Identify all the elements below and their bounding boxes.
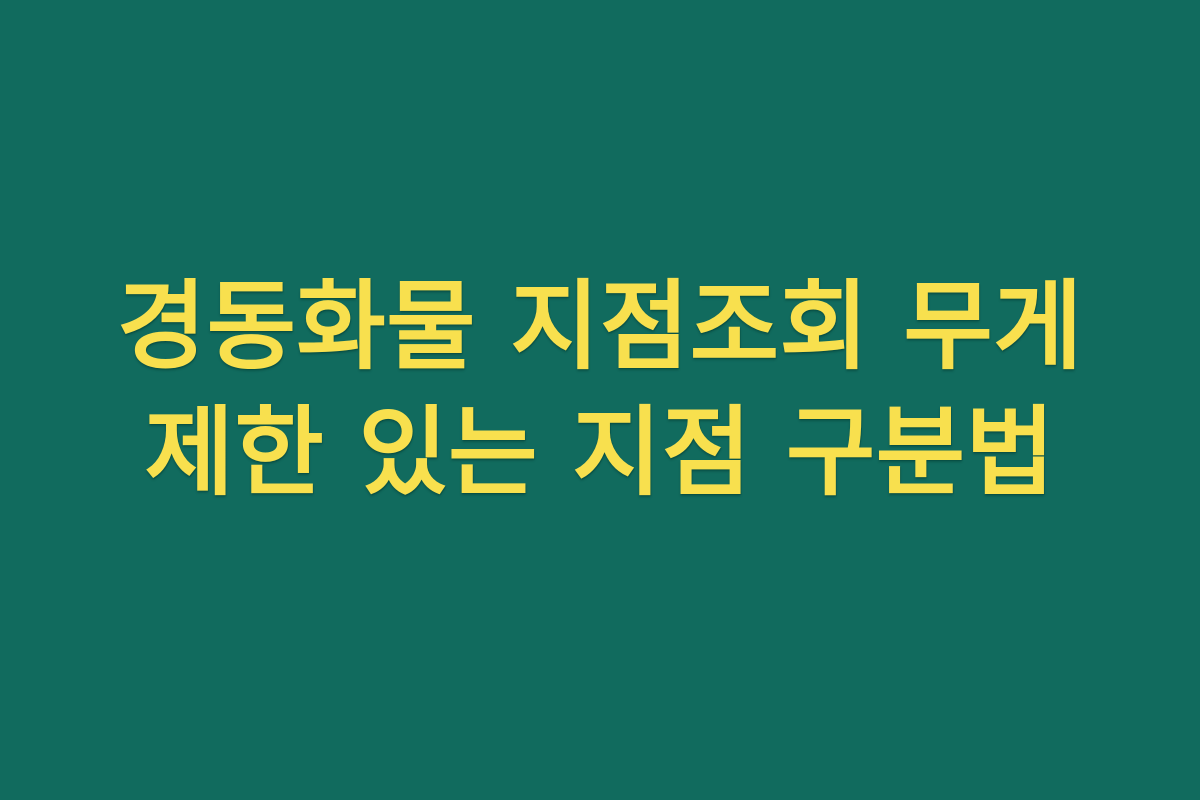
title-line-2: 제한 있는 지점 구분법 xyxy=(0,390,1200,516)
title-line-1: 경동화물 지점조회 무게 xyxy=(0,264,1200,390)
thumbnail-canvas: 경동화물 지점조회 무게 제한 있는 지점 구분법 xyxy=(0,0,1200,800)
title-block: 경동화물 지점조회 무게 제한 있는 지점 구분법 xyxy=(0,264,1200,516)
